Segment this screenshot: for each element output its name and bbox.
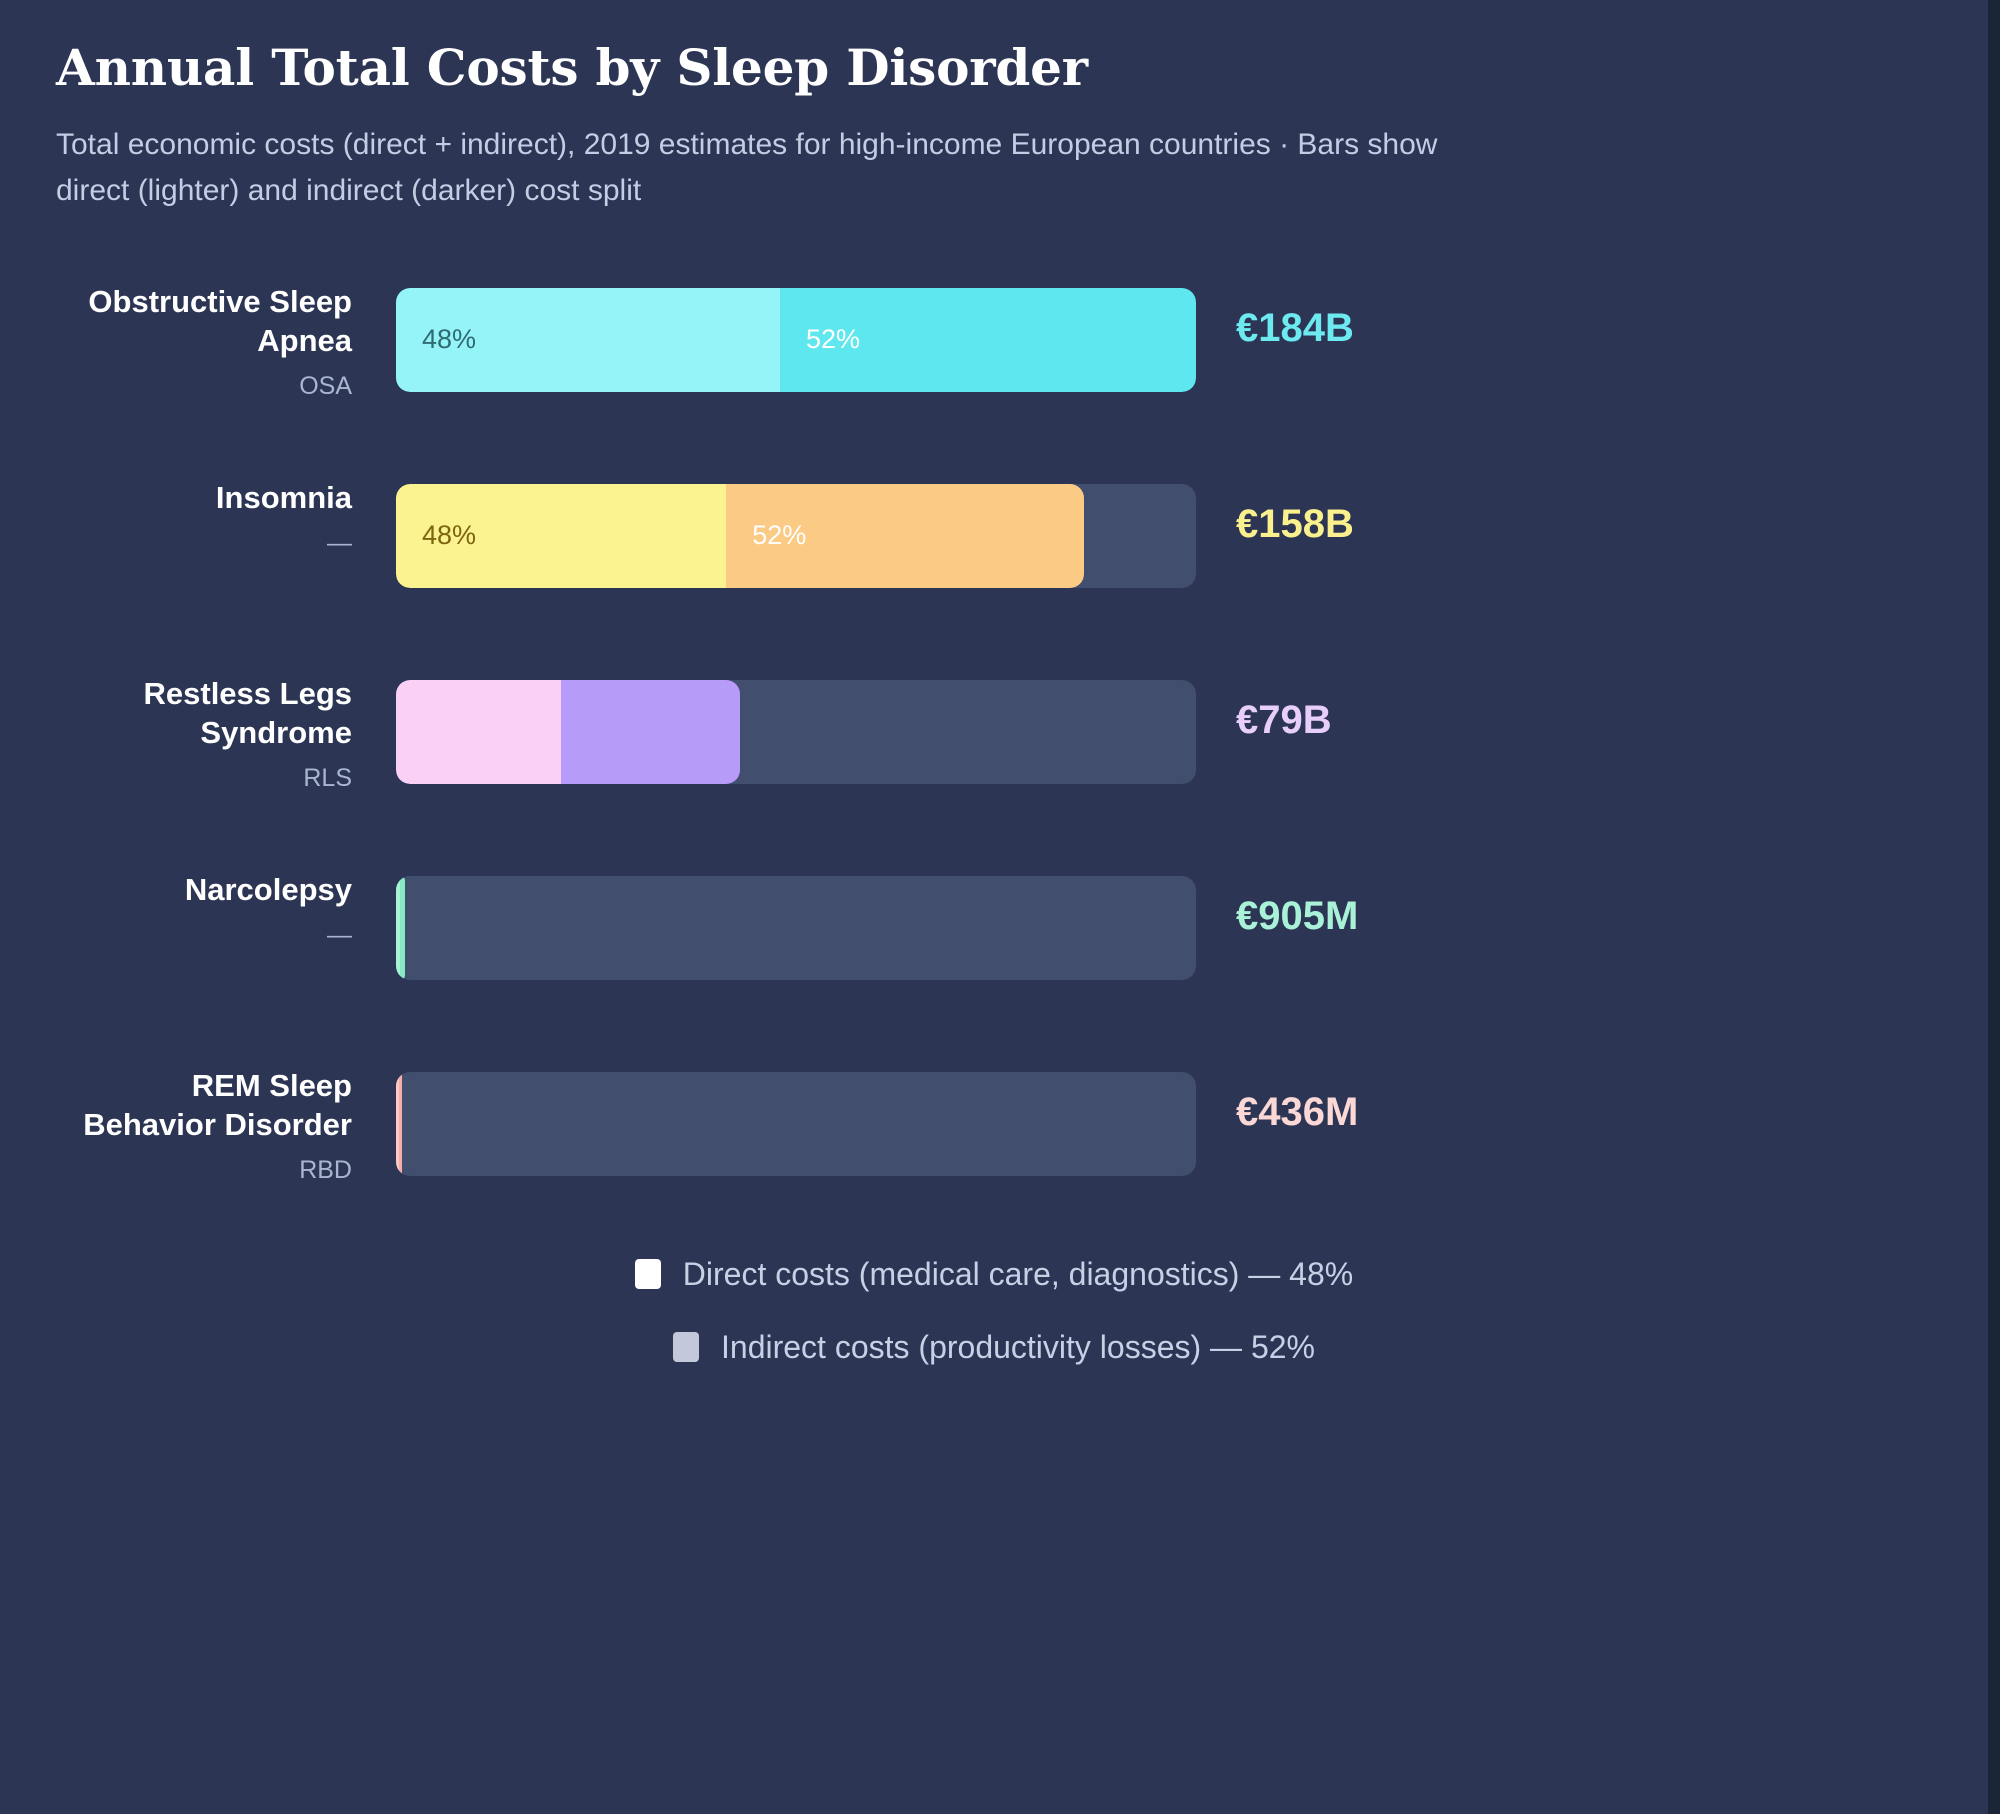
bar-track[interactable] [396,1072,1196,1176]
bar-track-wrapper [396,1060,1196,1176]
bar-track[interactable] [396,876,1196,980]
legend-row: Direct costs (medical care, diagnostics)… [56,1256,1932,1329]
chart-canvas: Annual Total Costs by Sleep Disorder Tot… [0,0,2000,1814]
bar-segment-direct: 48% [396,288,780,392]
disorder-abbreviation: — [56,921,352,950]
bar-track-wrapper [396,668,1196,784]
bar-row-label: Insomnia— [56,472,396,558]
disorder-name: Obstructive Sleep Apnea [56,282,352,360]
legend-item[interactable]: Indirect costs (productivity losses) — 5… [673,1329,1315,1366]
bar-fill [396,876,405,980]
bar-row[interactable]: REM Sleep Behavior DisorderRBD€436M [56,1060,1932,1212]
bar-segment-direct: 48% [396,484,726,588]
bar-value-label: €184B [1196,276,1932,351]
bar-fill: 48%52% [396,484,1084,588]
bar-track-wrapper: 48%52% [396,276,1196,392]
legend-row: Indirect costs (productivity losses) — 5… [56,1329,1932,1402]
bar-row[interactable]: Obstructive Sleep ApneaOSA48%52%€184B [56,276,1932,428]
bar-track-wrapper: 48%52% [396,472,1196,588]
disorder-name: Insomnia [56,478,352,517]
bar-row-label: Obstructive Sleep ApneaOSA [56,276,396,401]
disorder-name: Restless Legs Syndrome [56,674,352,752]
bar-row[interactable]: Insomnia—48%52%€158B [56,472,1932,624]
bar-row[interactable]: Restless Legs SyndromeRLS€79B [56,668,1932,820]
bar-track[interactable]: 48%52% [396,288,1196,392]
bar-track[interactable] [396,680,1196,784]
bar-segment-direct [396,680,561,784]
disorder-abbreviation: — [56,529,352,558]
bar-row-label: REM Sleep Behavior DisorderRBD [56,1060,396,1185]
chart-subtitle: Total economic costs (direct + indirect)… [56,122,1456,214]
disorder-name: REM Sleep Behavior Disorder [56,1066,352,1144]
legend-label: Indirect costs (productivity losses) — 5… [721,1329,1315,1366]
bar-value-label: €158B [1196,472,1932,547]
disorder-abbreviation: RLS [56,764,352,793]
bar-segment-indirect [561,680,740,784]
bar-row-label: Narcolepsy— [56,864,396,950]
bar-value-label: €436M [1196,1060,1932,1135]
bar-value-label: €79B [1196,668,1932,743]
bar-row[interactable]: Narcolepsy—€905M [56,864,1932,1016]
legend-item[interactable]: Direct costs (medical care, diagnostics)… [635,1256,1353,1293]
bar-fill: 48%52% [396,288,1196,392]
bar-row-label: Restless Legs SyndromeRLS [56,668,396,793]
chart-inner: Annual Total Costs by Sleep Disorder Tot… [0,0,1988,1814]
disorder-abbreviation: OSA [56,372,352,401]
page-title: Annual Total Costs by Sleep Disorder [56,40,1932,96]
bar-fill [396,680,740,784]
bar-segment-indirect [400,876,405,980]
legend-label: Direct costs (medical care, diagnostics)… [683,1256,1353,1293]
bar-track-wrapper [396,864,1196,980]
bar-segment-indirect [399,1072,402,1176]
bar-track[interactable]: 48%52% [396,484,1196,588]
bar-segment-indirect: 52% [726,484,1084,588]
legend-swatch-direct [635,1259,661,1289]
disorder-name: Narcolepsy [56,870,352,909]
bar-segment-indirect: 52% [780,288,1196,392]
bar-value-label: €905M [1196,864,1932,939]
right-edge-strip [1988,0,2000,1814]
chart-legend: Direct costs (medical care, diagnostics)… [56,1256,1932,1402]
bar-rows-container: Obstructive Sleep ApneaOSA48%52%€184BIns… [56,276,1932,1212]
legend-swatch-indirect [673,1332,699,1362]
disorder-abbreviation: RBD [56,1156,352,1185]
bar-fill [396,1072,402,1176]
